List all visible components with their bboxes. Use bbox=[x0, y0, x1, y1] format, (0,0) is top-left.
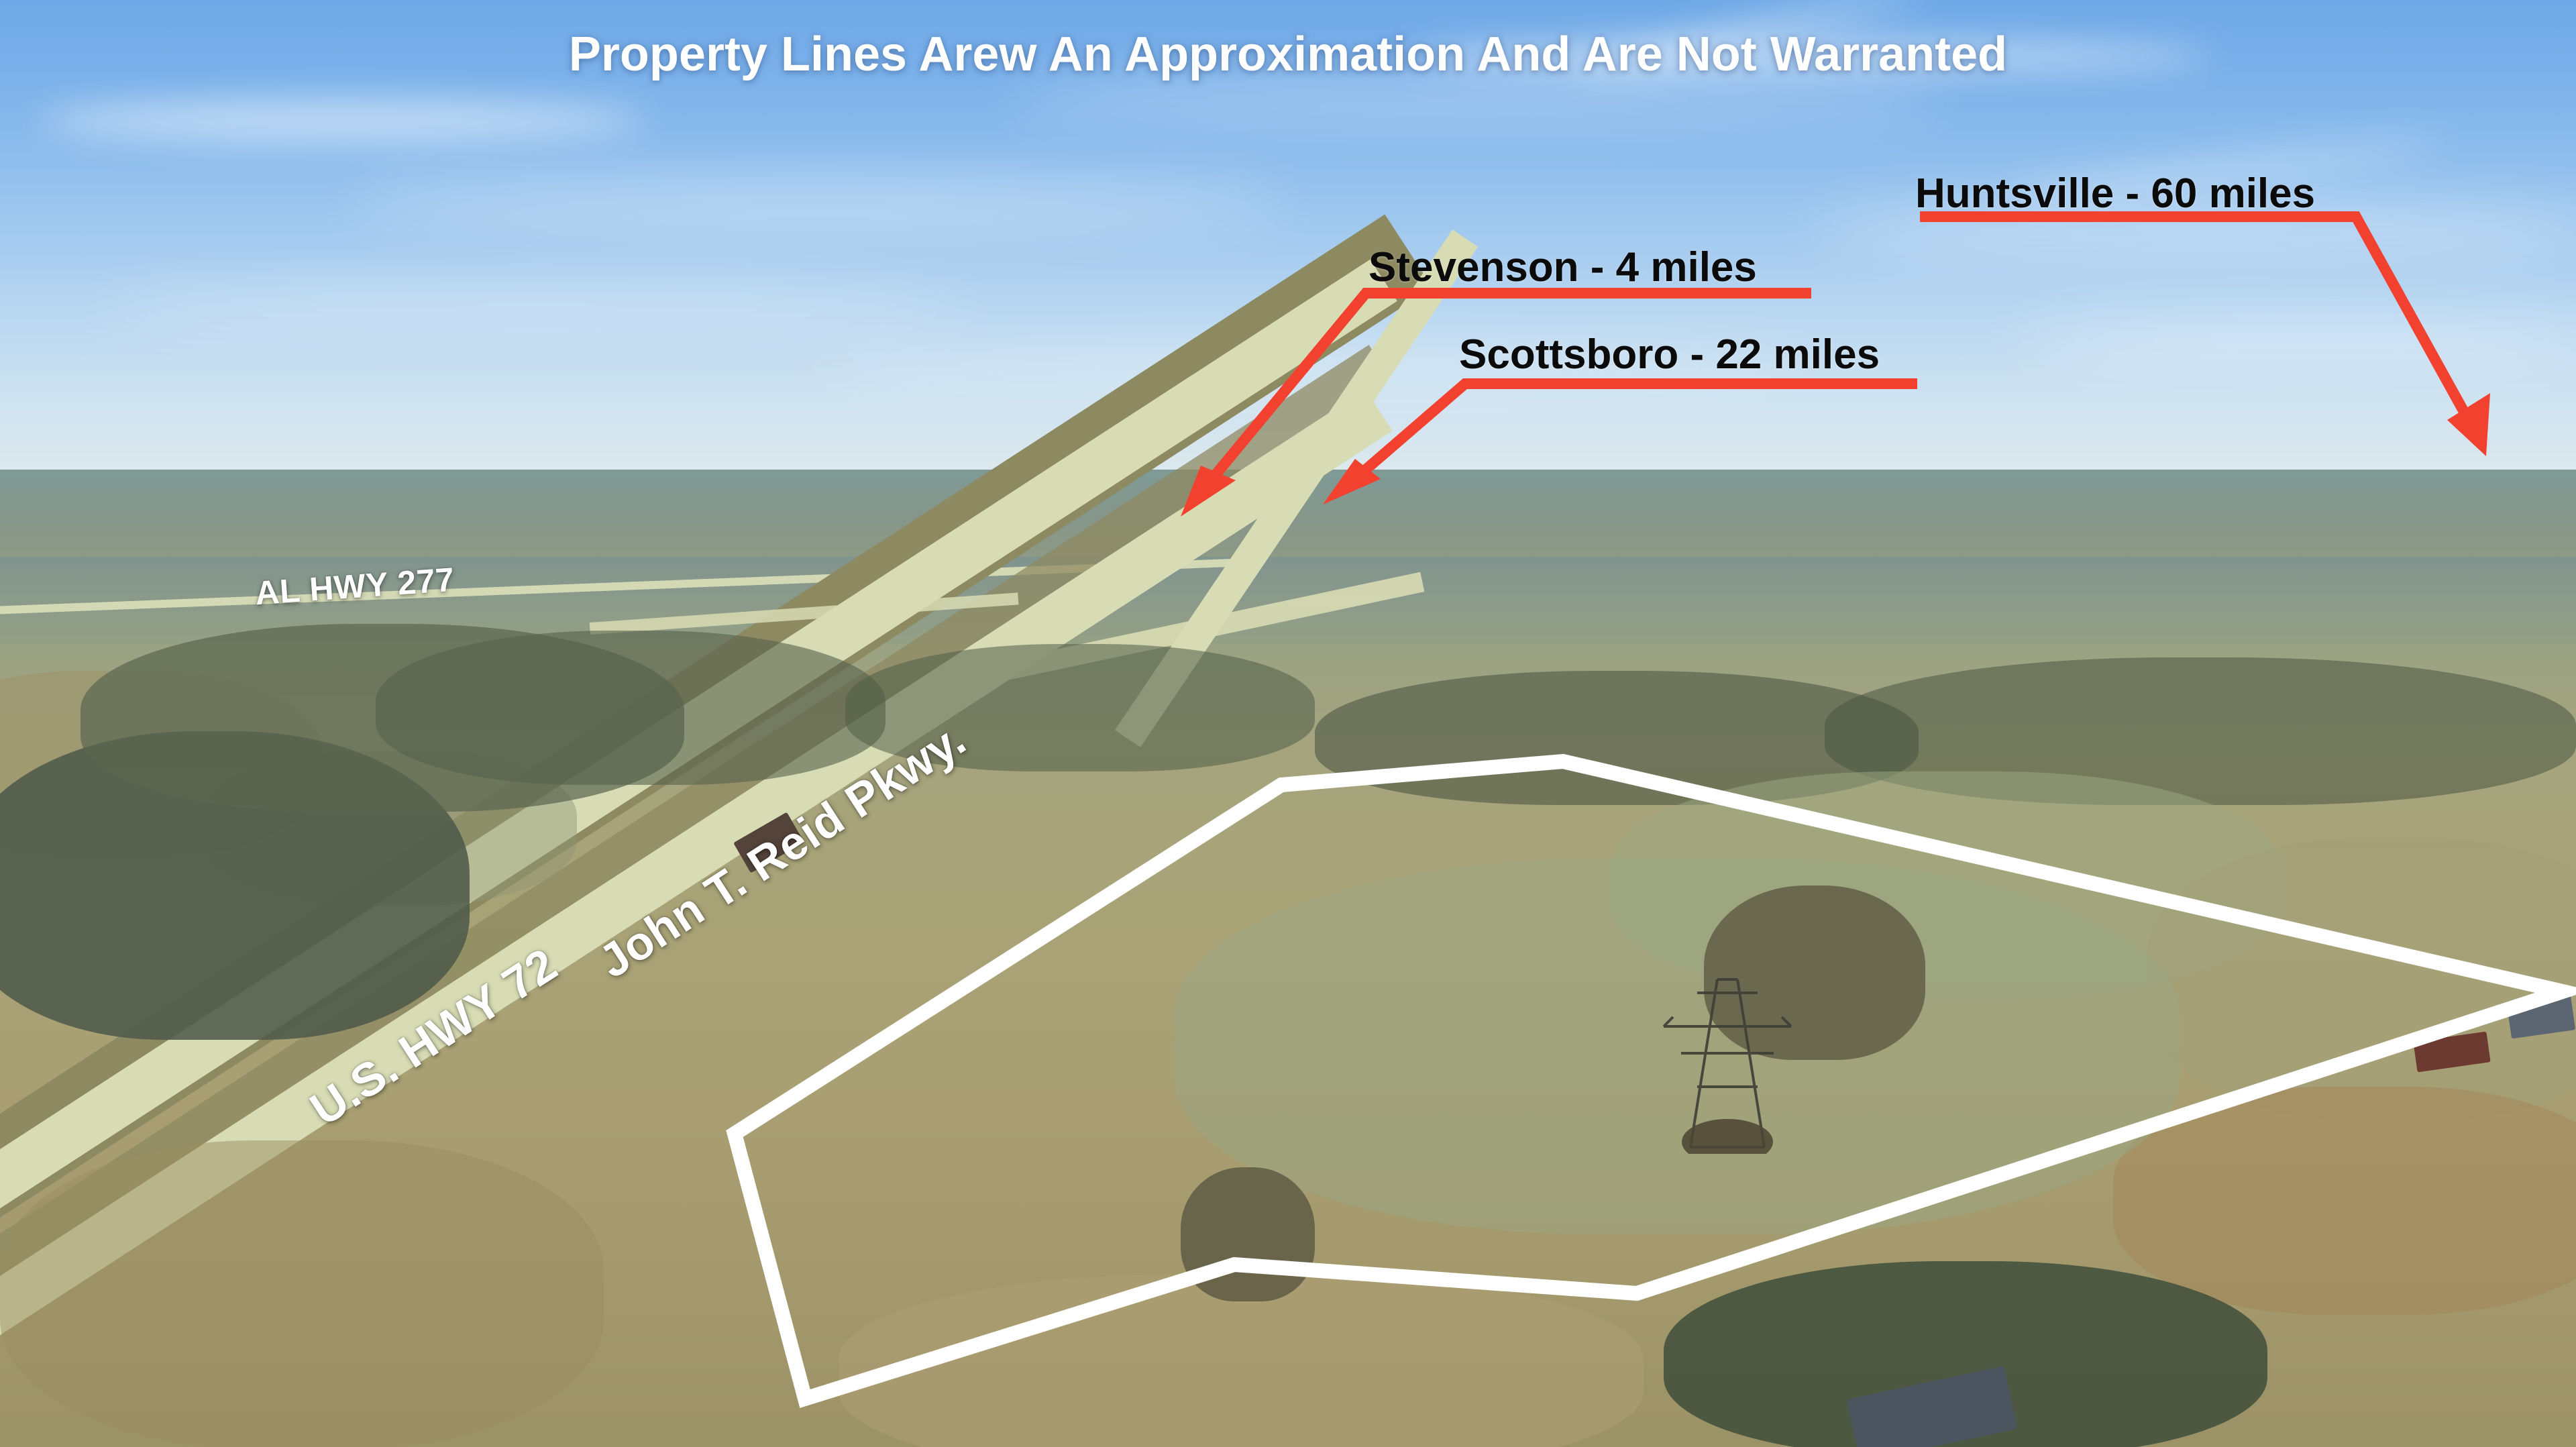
transmission-tower-icon bbox=[1650, 953, 1805, 1154]
tree-line bbox=[376, 631, 885, 785]
callout-huntsville-label: Huntsville - 60 miles bbox=[1915, 173, 2315, 215]
page-title: Property Lines Arew An Approximation And… bbox=[0, 27, 2576, 82]
callout-stevenson: Stevenson - 4 miles bbox=[1368, 247, 1757, 288]
aerial-property-photo: AL HWY 277 U.S. HWY 72 John T. Reid Pkwy… bbox=[0, 0, 2576, 1447]
callout-stevenson-label: Stevenson - 4 miles bbox=[1368, 247, 1757, 288]
callout-scottsboro-label: Scottsboro - 22 miles bbox=[1459, 334, 1880, 376]
cloud-wisp bbox=[101, 288, 973, 329]
pasture-patch bbox=[2147, 839, 2576, 1120]
callout-huntsville: Huntsville - 60 miles bbox=[1915, 173, 2315, 215]
plowed-field-patch bbox=[2113, 1087, 2576, 1315]
cloud-wisp bbox=[349, 181, 1288, 228]
cloud-wisp bbox=[1006, 81, 1945, 117]
tree-cluster bbox=[1181, 1167, 1315, 1301]
cloud-wisp bbox=[40, 101, 644, 141]
callout-scottsboro: Scottsboro - 22 miles bbox=[1459, 334, 1880, 376]
field-patch bbox=[0, 1140, 604, 1447]
